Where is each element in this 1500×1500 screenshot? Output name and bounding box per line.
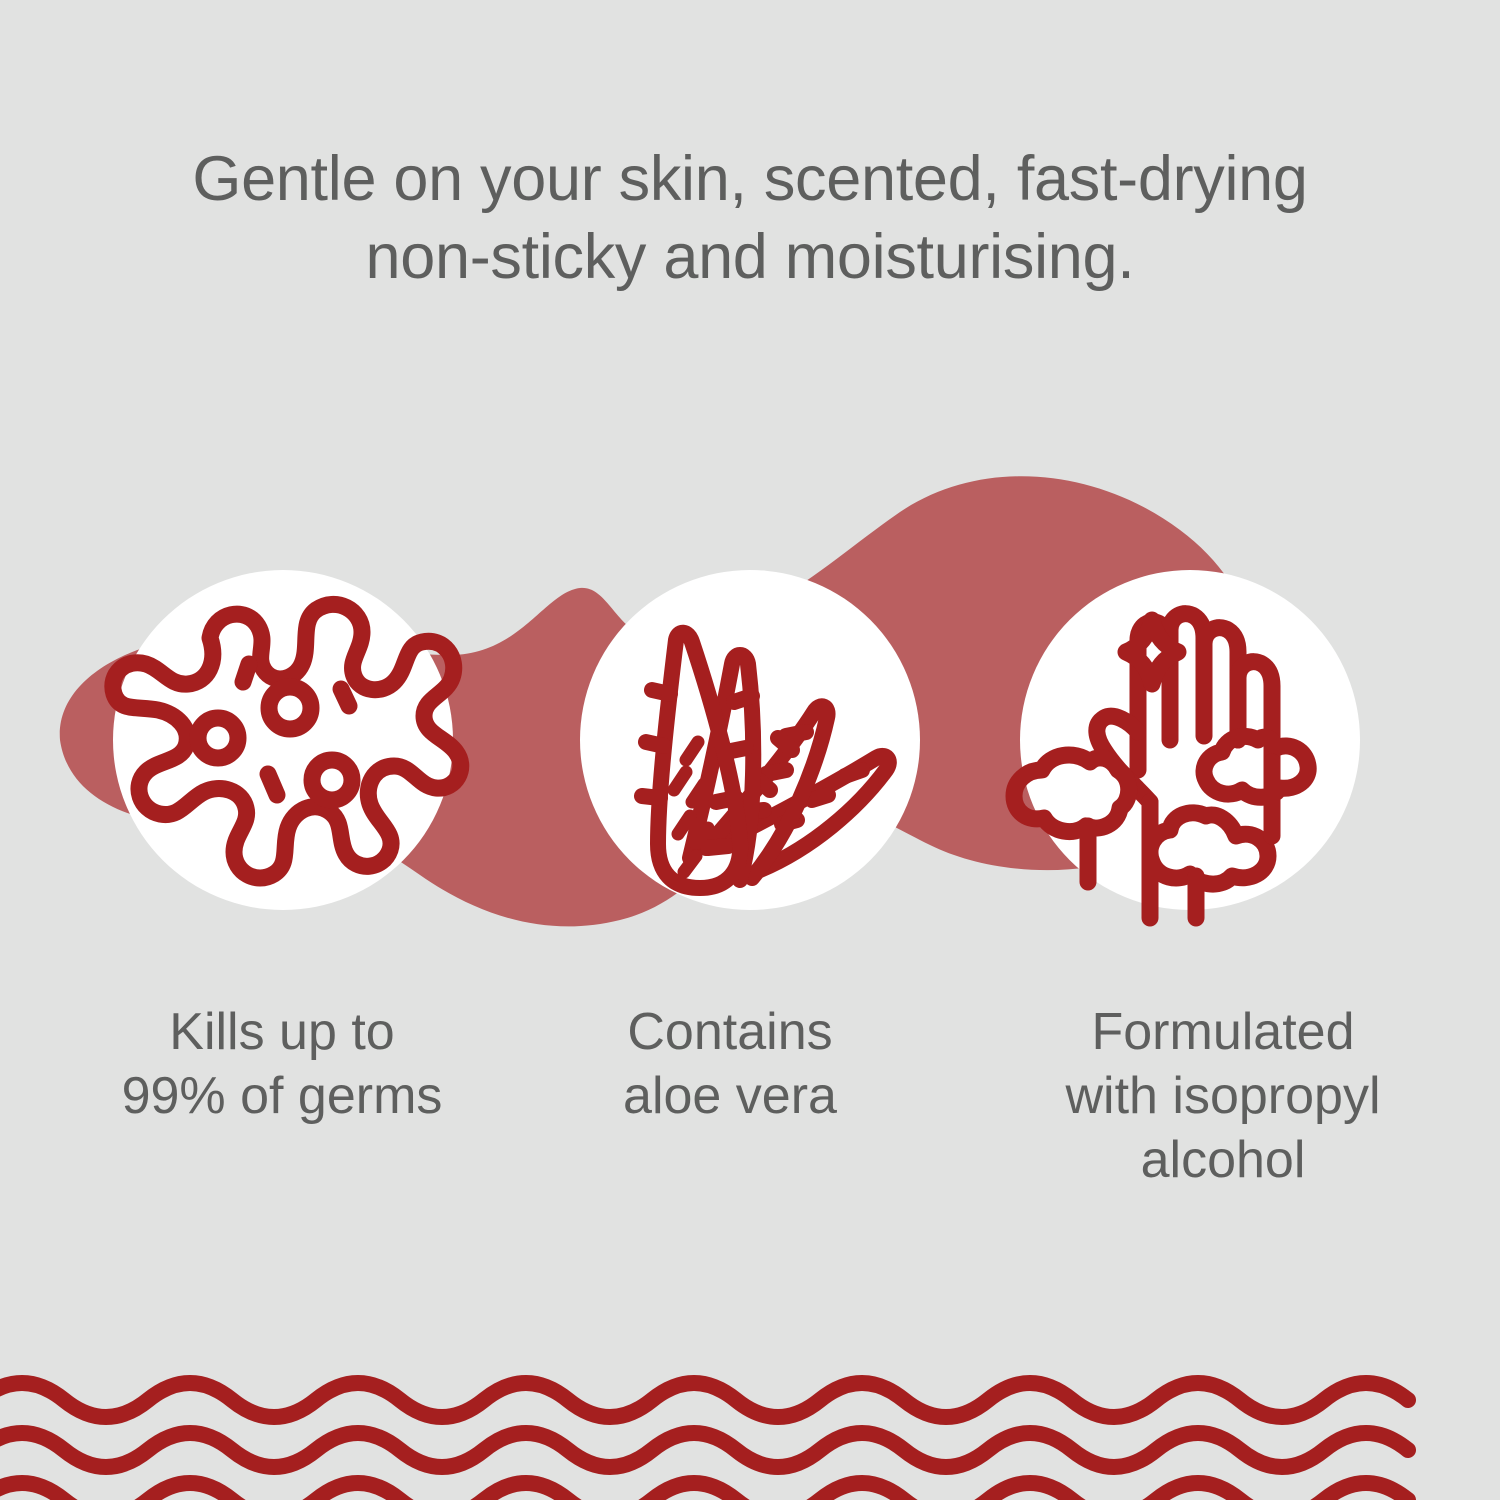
headline-line-1: Gentle on your skin, scented, fast-dryin… [0,140,1500,218]
caption-1-line-1: Kills up to [72,1000,492,1064]
caption-3-line-2: with isopropyl [988,1064,1458,1128]
feature-caption-1: Kills up to 99% of germs [72,1000,492,1250]
caption-2-line-1: Contains [530,1000,930,1064]
page-title: Gentle on your skin, scented, fast-dryin… [0,140,1500,296]
feature-caption-3: Formulated with isopropyl alcohol [988,1000,1458,1250]
feature-icons-artwork [0,440,1500,1000]
wavy-line-divider [0,1368,1500,1500]
caption-3-line-3: alcohol [988,1128,1458,1192]
feature-captions: Kills up to 99% of germs Contains aloe v… [0,1000,1500,1250]
feature-caption-2: Contains aloe vera [530,1000,930,1250]
wave-line-2 [0,1433,1408,1467]
caption-2-line-2: aloe vera [530,1064,930,1128]
wave-line-1 [0,1383,1408,1417]
caption-1-line-2: 99% of germs [72,1064,492,1128]
headline-line-2: non-sticky and moisturising. [0,218,1500,296]
infographic-stage: Gentle on your skin, scented, fast-dryin… [0,0,1500,1500]
wave-line-3 [0,1483,1408,1500]
caption-3-line-1: Formulated [988,1000,1458,1064]
